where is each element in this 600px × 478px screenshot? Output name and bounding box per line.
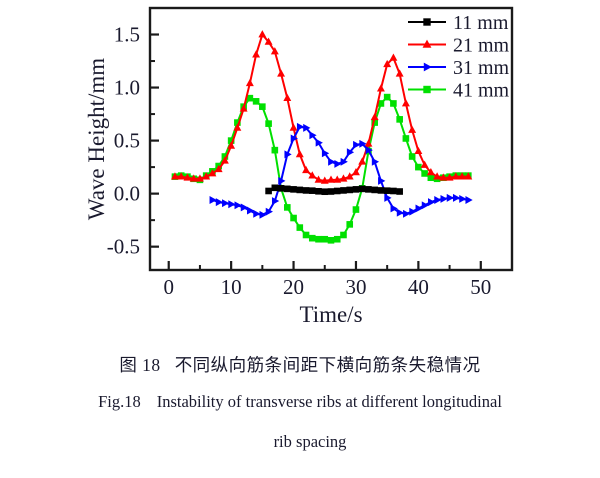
data-point-marker [397, 189, 403, 195]
legend-label: 11 mm [453, 12, 509, 34]
legend-item-31-mm[interactable]: 31 mm [408, 57, 510, 79]
x-tick-label: 0 [163, 275, 174, 299]
caption-chinese-number: 图 18 [119, 355, 160, 375]
data-series-layer [172, 31, 473, 244]
data-point-marker [246, 80, 253, 86]
data-point-marker [421, 161, 428, 167]
data-point-marker [259, 104, 265, 110]
data-point-marker [409, 154, 415, 160]
legend-item-11-mm[interactable]: 11 mm [408, 12, 509, 34]
data-point-marker [390, 54, 397, 60]
data-point-marker [272, 147, 278, 153]
data-point-marker [347, 187, 353, 193]
caption-chinese: 图 18不同纵向筋条间距下横向筋条失稳情况 [0, 352, 600, 377]
data-point-marker [365, 186, 371, 192]
data-point-marker [309, 188, 315, 194]
figure-container: 01020304050-0.50.00.51.01.5 11 mm21 mm31… [0, 0, 600, 478]
x-tick-label: 30 [345, 275, 366, 299]
data-point-marker [216, 199, 222, 206]
data-point-marker [422, 170, 428, 176]
data-point-marker [322, 236, 328, 242]
data-point-marker [403, 210, 409, 217]
data-point-marker [384, 188, 390, 194]
data-point-marker [297, 225, 303, 231]
data-point-marker [296, 151, 303, 157]
data-point-marker [309, 235, 315, 241]
data-point-marker [334, 188, 340, 194]
data-point-marker [328, 237, 334, 243]
x-tick-label: 10 [221, 275, 242, 299]
data-point-marker [297, 123, 303, 130]
axis-ticks [150, 35, 481, 270]
data-point-marker [390, 100, 396, 106]
x-axis-title: Time/s [299, 302, 362, 327]
data-point-marker [428, 175, 434, 181]
data-point-marker [266, 188, 272, 194]
data-point-marker [397, 209, 403, 216]
axis-tick-labels: 01020304050-0.50.00.51.01.5 [107, 23, 492, 299]
data-point-marker [322, 189, 328, 195]
data-point-marker [424, 86, 431, 93]
data-point-marker [259, 31, 266, 37]
x-tick-label: 20 [283, 275, 304, 299]
x-tick-label: 40 [408, 275, 429, 299]
legend-item-21-mm[interactable]: 21 mm [408, 35, 510, 57]
data-point-marker [384, 94, 390, 100]
data-point-marker [353, 186, 359, 192]
caption-english-label: Fig.18 [98, 392, 141, 411]
data-point-marker [316, 188, 322, 194]
series-line [175, 35, 468, 181]
data-point-marker [424, 19, 431, 26]
caption-english-text-2: rib spacing [274, 432, 347, 451]
data-point-marker [334, 236, 340, 242]
data-point-marker [328, 189, 334, 195]
data-point-marker [210, 197, 216, 204]
data-point-marker [466, 197, 472, 204]
caption-english-line-2: rib spacing [0, 432, 600, 452]
data-point-marker [266, 121, 272, 127]
caption-english-line-1: Fig.18Instability of transverse ribs at … [0, 392, 600, 412]
data-point-marker [447, 194, 453, 201]
data-point-marker [390, 188, 396, 194]
data-point-marker [359, 186, 365, 192]
data-point-marker [253, 51, 260, 57]
data-point-marker [303, 167, 310, 173]
data-point-marker [229, 201, 235, 208]
wave-height-line-chart: 01020304050-0.50.00.51.01.5 11 mm21 mm31… [0, 0, 600, 330]
data-point-marker [460, 195, 466, 202]
data-point-marker [396, 70, 403, 76]
y-tick-label: 0.0 [114, 182, 140, 206]
data-point-marker [284, 204, 290, 210]
data-point-marker [284, 186, 290, 192]
data-point-marker [424, 63, 431, 71]
data-point-marker [397, 116, 403, 122]
data-point-marker [353, 141, 359, 148]
data-point-marker [340, 232, 346, 238]
y-tick-label: 0.5 [114, 129, 140, 153]
data-point-marker [340, 187, 346, 193]
data-point-marker [435, 197, 441, 204]
data-point-marker [222, 200, 228, 207]
y-axis-title: Wave Height/mm [84, 58, 109, 220]
series-21-mm [172, 31, 472, 184]
data-point-marker [278, 70, 285, 76]
legend-item-41-mm[interactable]: 41 mm [408, 80, 510, 102]
data-point-marker [291, 186, 297, 192]
y-tick-label: 1.5 [114, 23, 140, 47]
legend-label: 31 mm [453, 57, 510, 79]
data-point-marker [359, 158, 366, 164]
data-point-marker [328, 158, 334, 165]
data-point-marker [278, 185, 284, 191]
data-point-marker [428, 199, 434, 206]
data-point-marker [409, 126, 416, 132]
data-point-marker [403, 135, 409, 141]
data-point-marker [254, 210, 260, 217]
legend-label: 41 mm [453, 80, 510, 102]
data-point-marker [353, 207, 359, 213]
data-point-marker [441, 195, 447, 202]
data-point-marker [303, 232, 309, 238]
data-point-marker [272, 185, 278, 191]
x-tick-label: 50 [470, 275, 491, 299]
data-point-marker [372, 187, 378, 193]
data-point-marker [415, 164, 421, 170]
data-point-marker [453, 194, 459, 201]
data-point-marker [291, 215, 297, 221]
chart-legend: 11 mm21 mm31 mm41 mm [408, 12, 510, 102]
series-31-mm [210, 123, 472, 218]
y-tick-label: 1.0 [114, 76, 140, 100]
data-point-marker [284, 94, 291, 100]
data-point-marker [335, 160, 341, 167]
data-point-marker [290, 124, 297, 130]
data-point-marker [378, 187, 384, 193]
y-tick-label: -0.5 [107, 235, 140, 259]
caption-english-text-1: Instability of transverse ribs at differ… [157, 392, 502, 411]
data-point-marker [377, 85, 384, 91]
data-point-marker [253, 98, 259, 104]
data-point-marker [347, 221, 353, 227]
data-point-marker [235, 202, 241, 209]
chart-plot-area: 01020304050-0.50.00.51.01.5 11 mm21 mm31… [0, 0, 600, 330]
caption-chinese-text: 不同纵向筋条间距下横向筋条失稳情况 [175, 355, 481, 375]
data-point-marker [316, 236, 322, 242]
data-point-marker [402, 100, 409, 106]
data-point-marker [303, 187, 309, 193]
data-point-marker [297, 187, 303, 193]
data-point-marker [415, 147, 422, 153]
legend-label: 21 mm [453, 35, 510, 57]
